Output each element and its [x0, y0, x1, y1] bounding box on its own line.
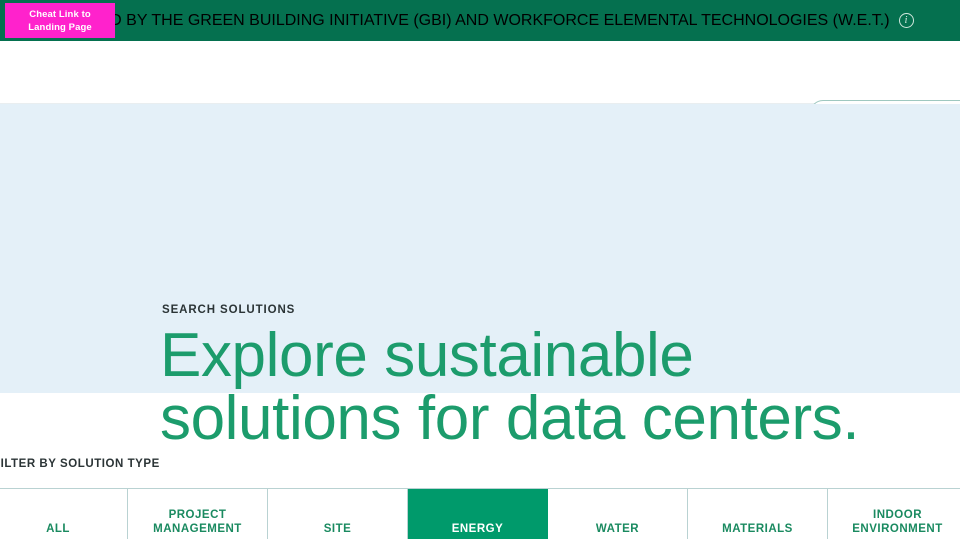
hero-eyebrow: SEARCH SOLUTIONS [162, 304, 295, 316]
tab-water[interactable]: WATER [548, 489, 688, 539]
announcement-bar: CREATED BY THE GREEN BUILDING INITIATIVE… [0, 0, 960, 41]
tab-all[interactable]: ALL [0, 489, 128, 539]
page-title: Explore sustainable solutions for data c… [160, 324, 920, 450]
filter-by-solution-type-label: FILTER BY SOLUTION TYPE [0, 458, 160, 470]
cheat-link-to-landing-page-button[interactable]: Cheat Link to Landing Page [5, 3, 115, 38]
tab-indoor-environment[interactable]: INDOOR ENVIRONMENT [828, 489, 960, 539]
main-navigation: SUSTAINABLE DATA CENTER PLAYBOOK HOME GB… [0, 41, 960, 104]
tab-project-management[interactable]: PROJECT MANAGEMENT [128, 489, 268, 539]
tab-materials[interactable]: MATERIALS [688, 489, 828, 539]
tab-site[interactable]: SITE [268, 489, 408, 539]
tab-energy[interactable]: ENERGY [408, 489, 548, 539]
cheat-link-line-2: Landing Page [28, 21, 91, 34]
page-root: CREATED BY THE GREEN BUILDING INITIATIVE… [0, 0, 960, 540]
solution-type-tabs: ALLPROJECT MANAGEMENTSITEENERGYWATERMATE… [0, 488, 960, 540]
hero-section: SEARCH SOLUTIONS Explore sustainable sol… [0, 104, 960, 393]
announcement-text: CREATED BY THE GREEN BUILDING INITIATIVE… [46, 12, 889, 30]
cheat-link-line-1: Cheat Link to [29, 8, 90, 21]
info-icon[interactable]: i [899, 13, 914, 28]
announcement-content: CREATED BY THE GREEN BUILDING INITIATIVE… [46, 12, 913, 30]
